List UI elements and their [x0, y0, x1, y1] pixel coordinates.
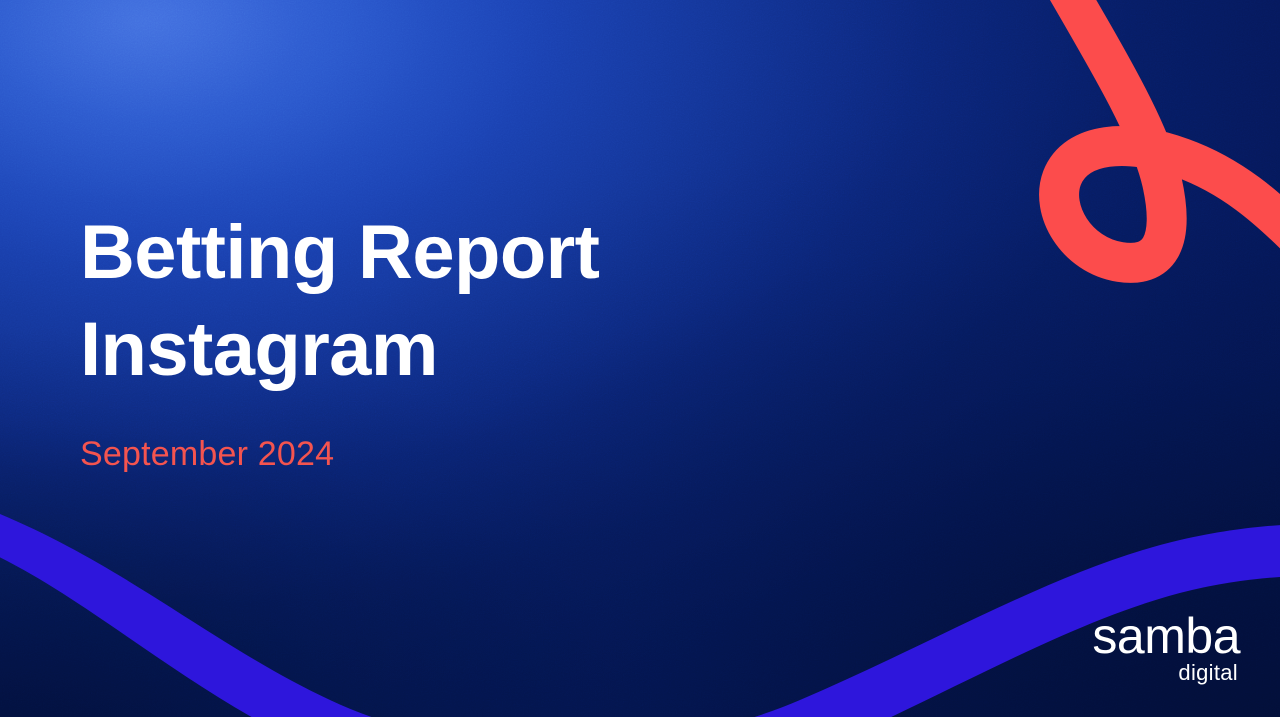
headline-line-2: Instagram — [80, 301, 780, 398]
title-slide: Betting Report Instagram September 2024 … — [0, 0, 1280, 717]
subtitle-date: September 2024 — [80, 398, 780, 474]
logo-wordmark: samba — [1092, 613, 1240, 659]
title-text-block: Betting Report Instagram September 2024 — [80, 204, 780, 474]
samba-digital-logo: samba digital — [1092, 613, 1240, 685]
headline-line-1: Betting Report — [80, 204, 780, 301]
